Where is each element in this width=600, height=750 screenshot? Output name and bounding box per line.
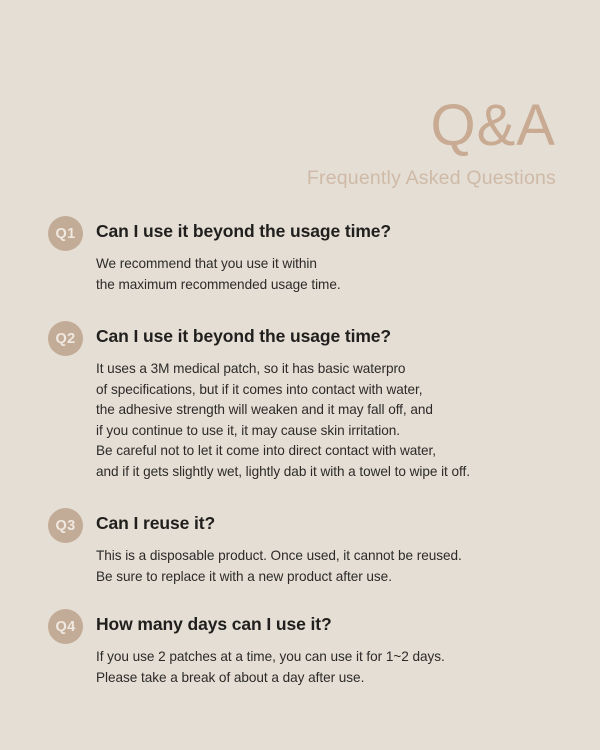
- question-title-q4: How many days can I use it?: [96, 609, 600, 636]
- question-title-q3: Can I reuse it?: [96, 508, 600, 535]
- answer-text-q4: If you use 2 patches at a time, you can …: [96, 647, 600, 688]
- answer-text-q2: It uses a 3M medical patch, so it has ba…: [96, 359, 600, 482]
- question-badge-q3: Q3: [48, 508, 83, 543]
- answer-text-q1: We recommend that you use it within the …: [96, 254, 600, 295]
- faq-item-q1: Q1 Can I use it beyond the usage time? W…: [0, 216, 600, 295]
- faq-item-q3: Q3 Can I reuse it? This is a disposable …: [0, 508, 600, 587]
- page-title: Q&A: [307, 96, 556, 156]
- question-badge-q4: Q4: [48, 609, 83, 644]
- question-title-q1: Can I use it beyond the usage time?: [96, 216, 600, 243]
- page-header: Q&A Frequently Asked Questions: [307, 96, 556, 190]
- question-badge-q2: Q2: [48, 321, 83, 356]
- page-subtitle: Frequently Asked Questions: [307, 166, 556, 190]
- question-title-q2: Can I use it beyond the usage time?: [96, 321, 600, 348]
- faq-list: Q1 Can I use it beyond the usage time? W…: [0, 216, 600, 710]
- faq-item-q2: Q2 Can I use it beyond the usage time? I…: [0, 321, 600, 482]
- faq-item-q4: Q4 How many days can I use it? If you us…: [0, 609, 600, 688]
- question-badge-q1: Q1: [48, 216, 83, 251]
- faq-page: Q&A Frequently Asked Questions Q1 Can I …: [0, 0, 600, 750]
- answer-text-q3: This is a disposable product. Once used,…: [96, 546, 600, 587]
